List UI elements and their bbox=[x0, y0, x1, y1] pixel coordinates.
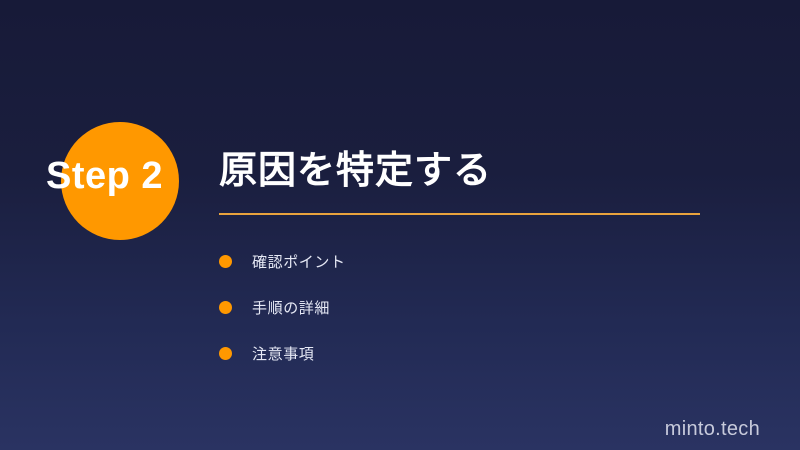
footer-brand: minto.tech bbox=[665, 418, 760, 441]
list-item: 確認ポイント bbox=[219, 238, 346, 284]
list-item: 注意事項 bbox=[219, 330, 346, 376]
bullet-list: 確認ポイント 手順の詳細 注意事項 bbox=[219, 238, 346, 376]
slide-title: 原因を特定する bbox=[219, 148, 492, 194]
bullet-dot-icon bbox=[219, 255, 232, 268]
slide-canvas: Step 2 原因を特定する 確認ポイント 手順の詳細 注意事項 minto.t… bbox=[0, 0, 800, 450]
bullet-item-label: 手順の詳細 bbox=[252, 297, 330, 318]
list-item: 手順の詳細 bbox=[219, 284, 346, 330]
title-divider bbox=[219, 213, 700, 215]
bullet-dot-icon bbox=[219, 347, 232, 360]
bullet-dot-icon bbox=[219, 301, 232, 314]
bullet-item-label: 確認ポイント bbox=[252, 251, 346, 272]
step-badge-label: Step 2 bbox=[46, 153, 206, 199]
bullet-item-label: 注意事項 bbox=[252, 343, 314, 364]
